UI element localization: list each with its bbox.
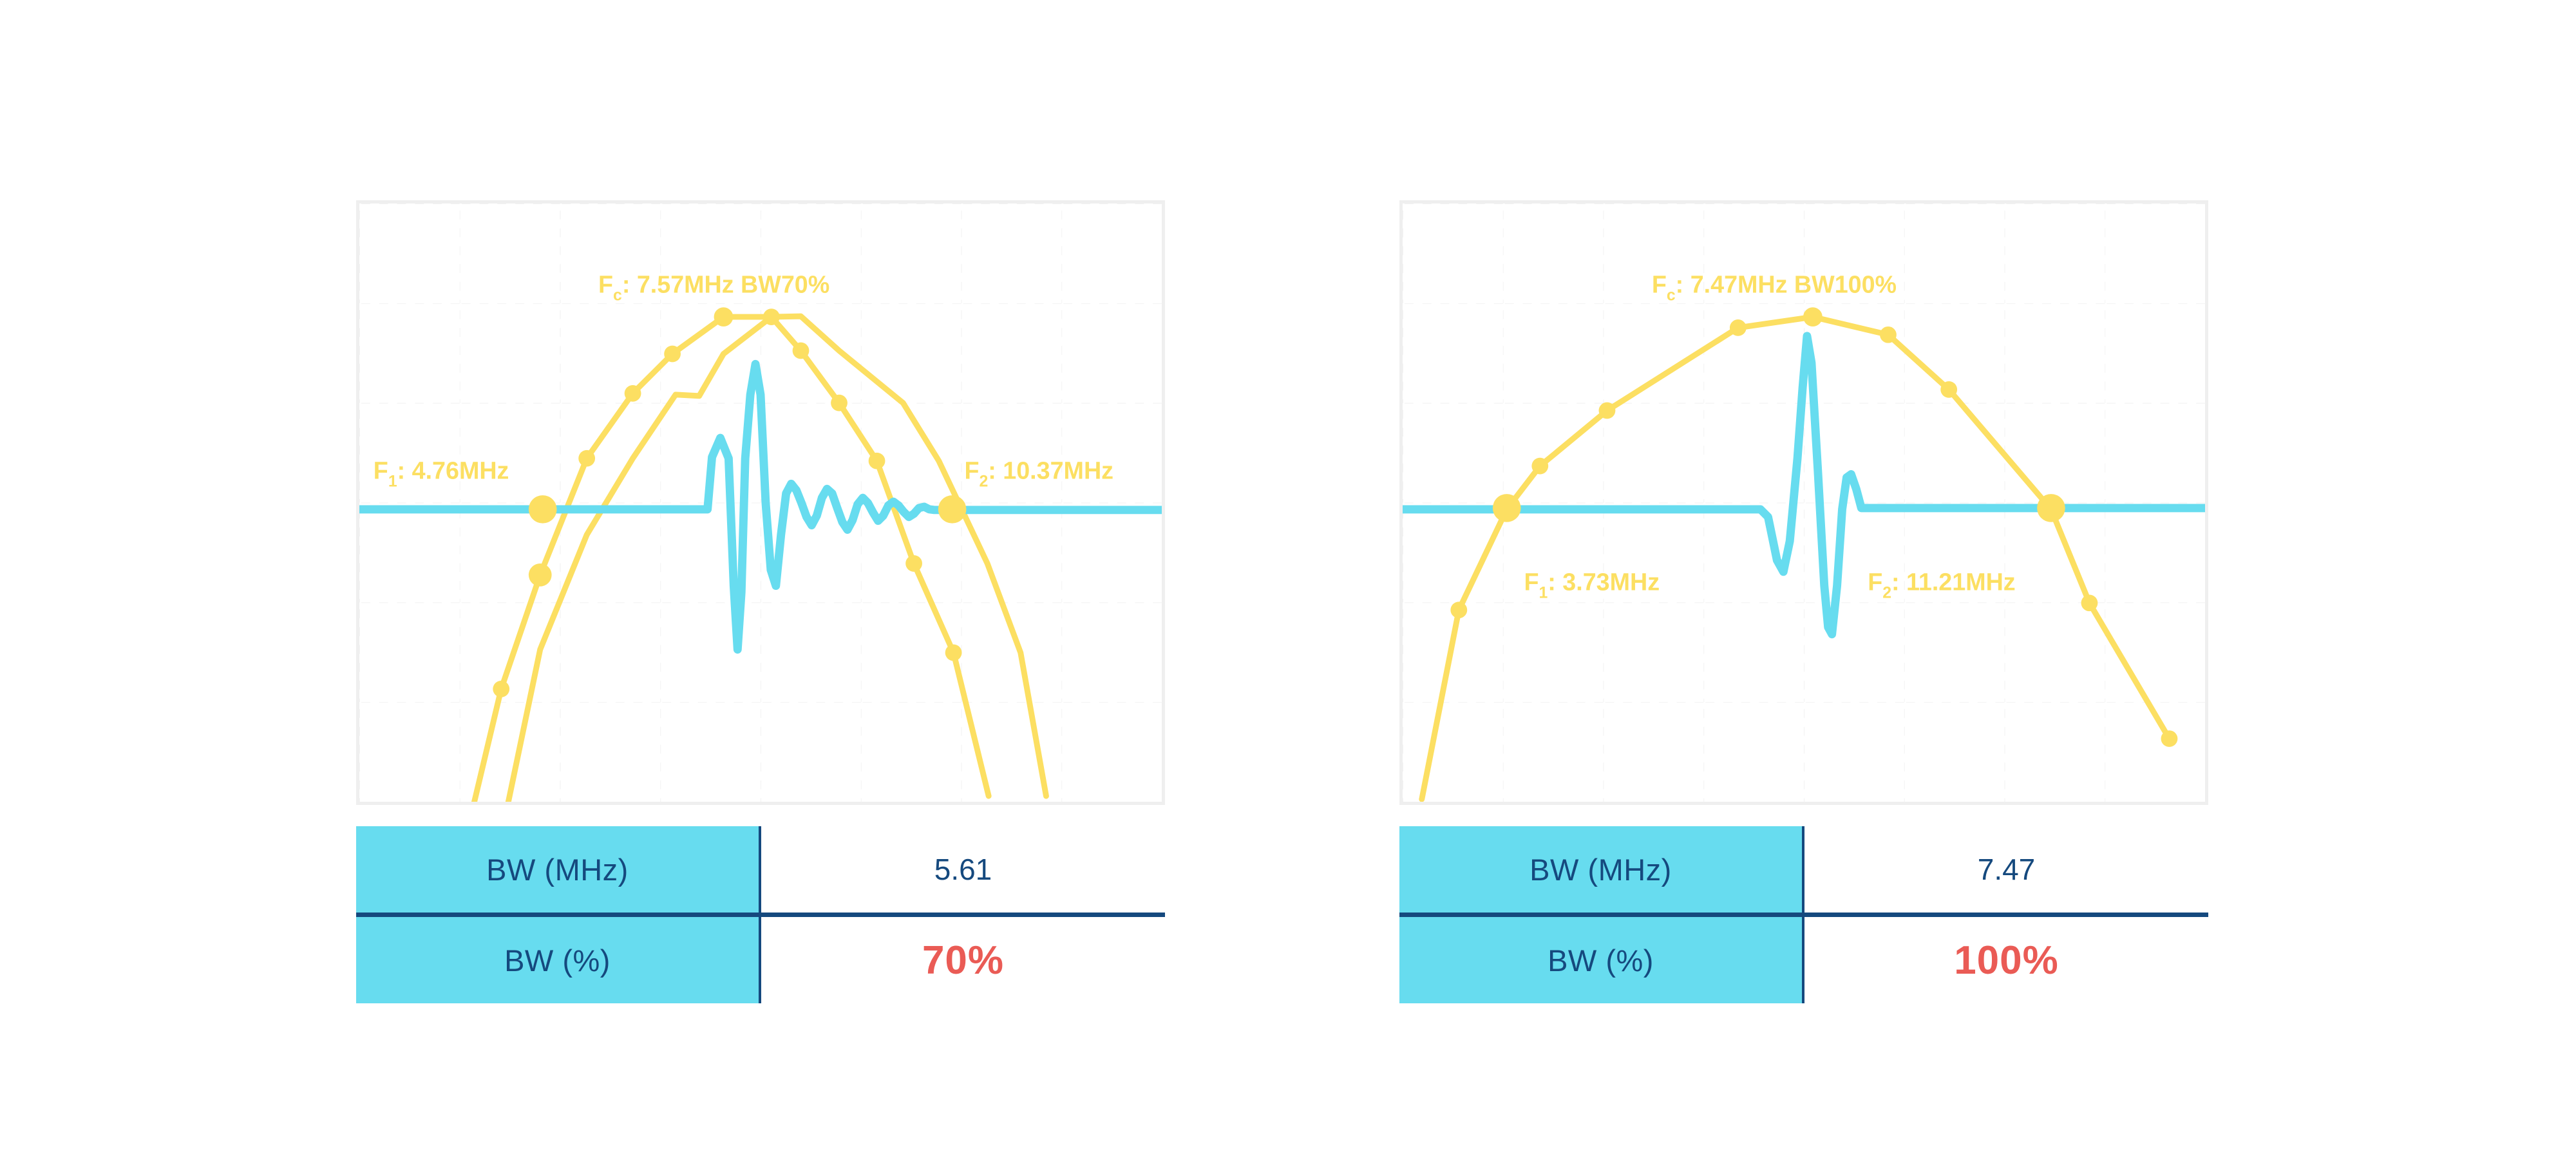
plot-area-bw70: Fc: 7.57MHz BW70% F1: 4.76MHz F2: 10.37M… [359, 203, 1162, 802]
result-table-bw70: BW (MHz) 5.61 BW (%) 70% [356, 826, 1165, 1003]
f1-label-bw100-sub: 1 [1539, 584, 1548, 601]
plot-area-bw100: Fc: 7.47MHz BW100% F1: 3.73MHz F2: 11.21… [1403, 203, 2205, 802]
fc-label-bw70-text: : 7.57MHz BW70% [622, 271, 829, 298]
bw-pct-value-bw70: 70% [760, 915, 1165, 1004]
result-table-bw100: BW (MHz) 7.47 BW (%) 100% [1399, 826, 2208, 1003]
f2-label-bw100-text: : 11.21MHz [1891, 569, 2016, 596]
f2-label-bw100-sub: 2 [1882, 584, 1891, 601]
f2-label-bw100-f: F [1868, 569, 1882, 596]
table-row: BW (%) 70% [356, 915, 1165, 1004]
f1-label-bw70-sub: 1 [388, 473, 397, 490]
fc-label-bw100-f: F [1652, 271, 1667, 298]
table-row: BW (%) 100% [1399, 915, 2208, 1004]
f1-label-bw100-text: : 3.73MHz [1548, 569, 1660, 596]
fc-label-bw70-f: F [598, 271, 613, 298]
bw-mhz-value-bw70: 5.61 [760, 826, 1165, 915]
plot-svg-bw100: Fc: 7.47MHz BW100% F1: 3.73MHz F2: 11.21… [1403, 203, 2205, 802]
bw-mhz-value-bw100: 7.47 [1803, 826, 2208, 915]
chart-panel-bw70: Fc: 7.57MHz BW70% F1: 4.76MHz F2: 10.37M… [356, 200, 1165, 805]
table-row: BW (MHz) 7.47 [1399, 826, 2208, 915]
fc-label-bw70-sub: c [613, 287, 622, 304]
bw-pct-label-bw100: BW (%) [1399, 915, 1803, 1004]
f2-crossing-marker-bw70 [938, 495, 967, 524]
f1-label-bw70-text: : 4.76MHz [397, 457, 509, 484]
f1-crossing-marker-bw100 [1493, 494, 1521, 522]
f2-crossing-marker-bw100 [2037, 494, 2065, 522]
bw-mhz-label-bw100: BW (MHz) [1399, 826, 1803, 915]
plot-svg-bw70: Fc: 7.57MHz BW70% F1: 4.76MHz F2: 10.37M… [359, 203, 1162, 802]
fc-label-bw100-text: : 7.47MHz BW100% [1676, 271, 1897, 298]
bw-pct-value-bw100: 100% [1803, 915, 2208, 1004]
f2-label-bw70-sub: 2 [979, 473, 988, 490]
f2-label-bw70-text: : 10.37MHz [988, 457, 1113, 484]
comparison-figure: Fc: 7.57MHz BW70% F1: 4.76MHz F2: 10.37M… [0, 0, 2576, 1154]
bw-mhz-label-bw70: BW (MHz) [356, 826, 760, 915]
f1-label-bw100-f: F [1524, 569, 1539, 596]
chart-panel-bw100: Fc: 7.47MHz BW100% F1: 3.73MHz F2: 11.21… [1399, 200, 2208, 805]
f1-crossing-marker-bw70 [529, 495, 557, 524]
f2-label-bw70-f: F [964, 457, 979, 484]
bw-pct-label-bw70: BW (%) [356, 915, 760, 1004]
f1-label-bw70-f: F [374, 457, 388, 484]
table-row: BW (MHz) 5.61 [356, 826, 1165, 915]
fc-label-bw100-sub: c [1667, 287, 1676, 304]
